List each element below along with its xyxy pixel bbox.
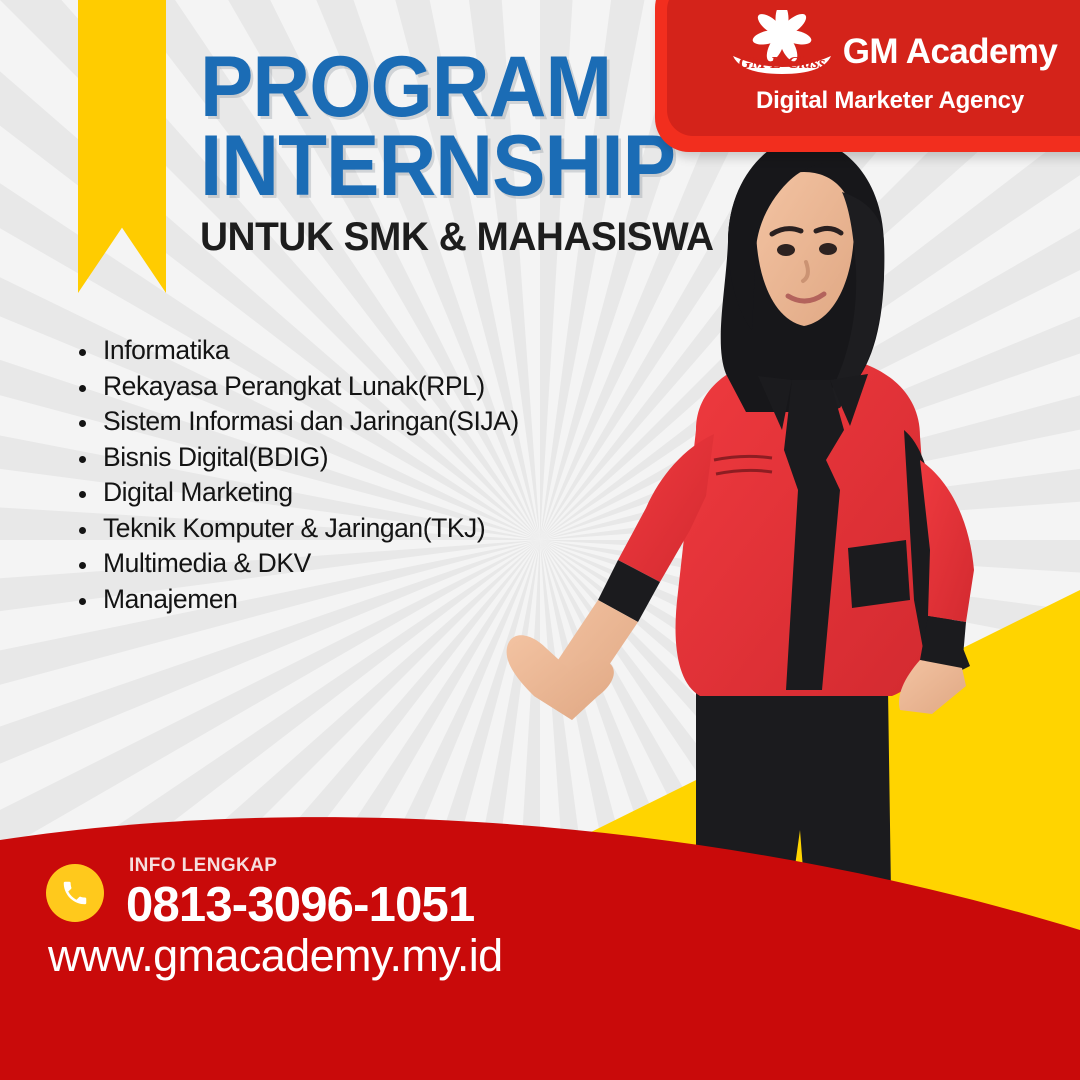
brand-name: GM Academy <box>843 34 1057 78</box>
contact-block: INFO LENGKAP 0813-3096-1051 <box>46 856 474 930</box>
website-url: www.gmacademy.my.id <box>48 930 503 982</box>
poster-canvas: PROGRAM INTERNSHIP UNTUK SMK & MAHASISWA… <box>0 0 1080 1080</box>
headline-line-1: PROGRAM <box>200 48 637 127</box>
phone-icon <box>46 864 104 922</box>
contact-text: INFO LENGKAP 0813-3096-1051 <box>126 856 474 930</box>
gm-logo-wordmark: GM E-Class <box>739 53 826 72</box>
info-label: INFO LENGKAP <box>129 856 474 875</box>
brand-badge: GM E-Class GM Academy Digital Marketer A… <box>655 0 1080 152</box>
brand-tagline: Digital Marketer Agency <box>756 87 1024 115</box>
phone-number: 0813-3096-1051 <box>126 881 474 930</box>
gm-flower-logo-icon: GM E-Class <box>723 10 841 78</box>
brand-name-row: GM E-Class GM Academy <box>723 10 1057 78</box>
brand-badge-content: GM E-Class GM Academy Digital Marketer A… <box>655 10 1080 115</box>
